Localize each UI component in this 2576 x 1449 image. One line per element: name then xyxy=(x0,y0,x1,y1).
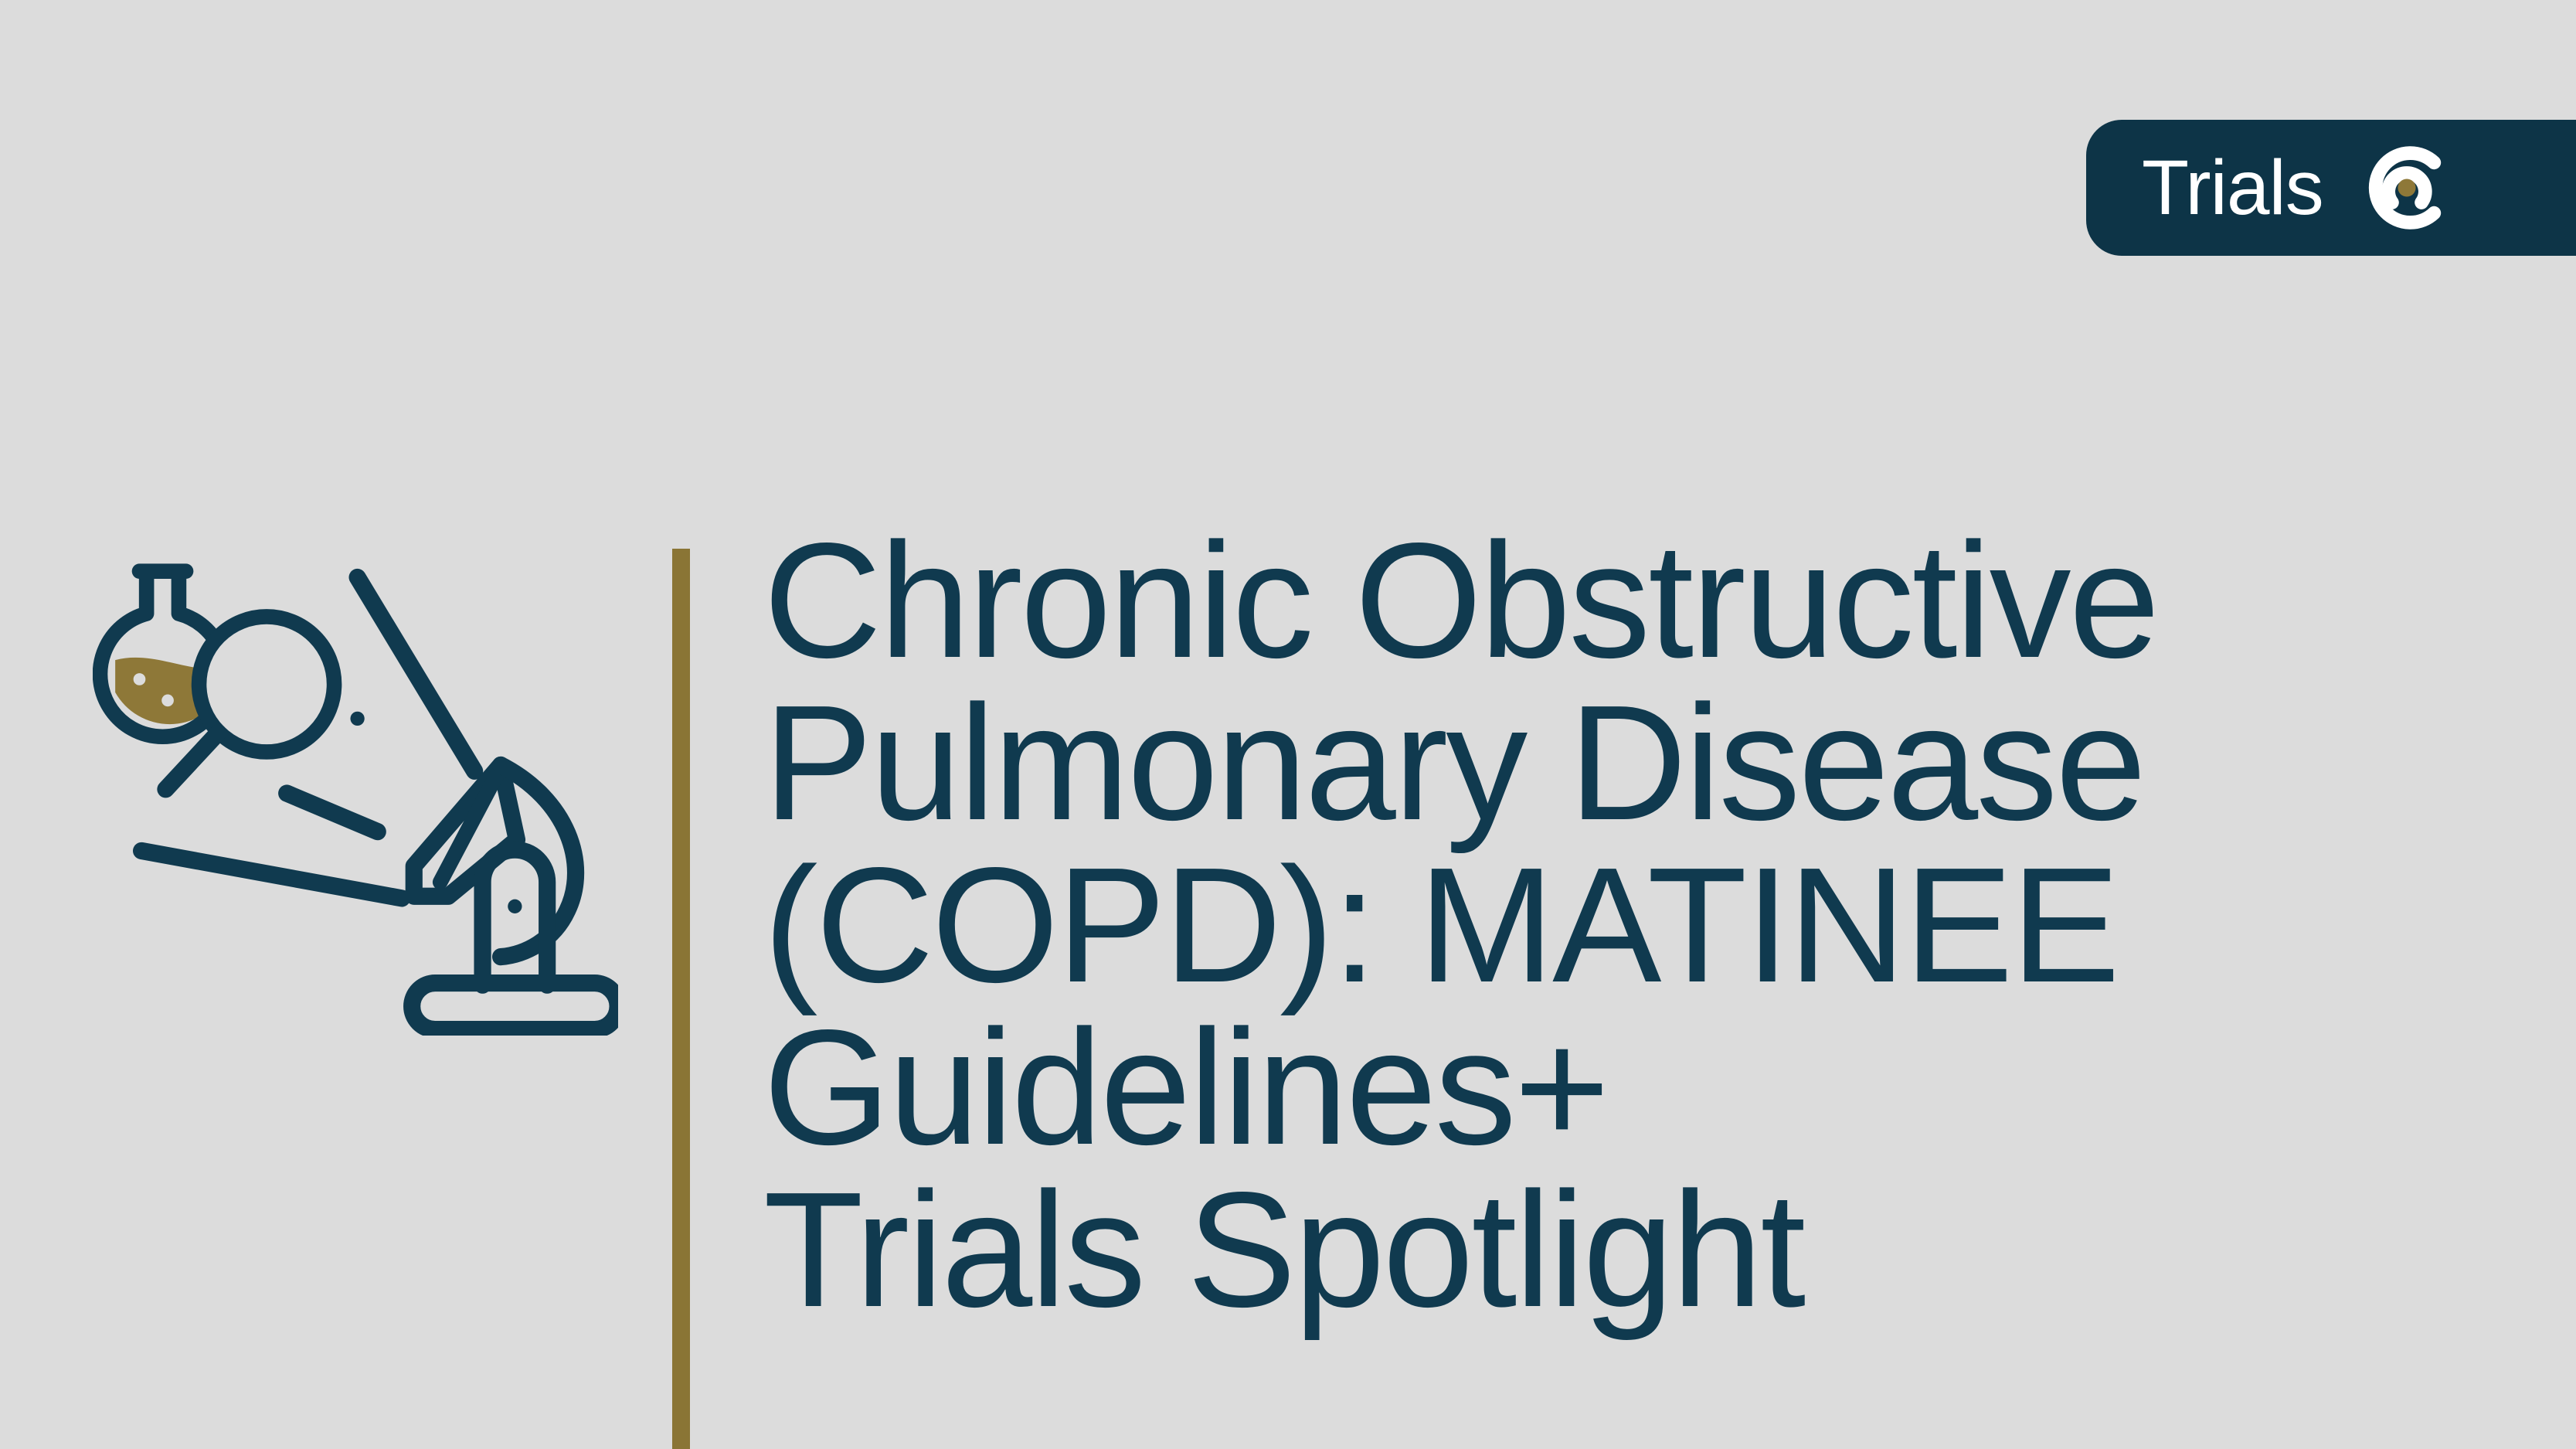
microscope-focus-knob xyxy=(508,900,522,913)
detail-speck xyxy=(350,712,364,726)
microscope-light-ray xyxy=(287,794,378,832)
title-line-1: Chronic Obstructive xyxy=(763,519,2448,682)
logo-center-dot xyxy=(2398,179,2415,196)
microscope-pillar xyxy=(483,850,548,985)
flask-bubble-1 xyxy=(134,673,146,685)
flask-bubble-2 xyxy=(161,695,174,707)
trials-badge[interactable]: Trials xyxy=(2086,120,2576,256)
microscope-base xyxy=(412,983,617,1029)
title-line-3: (COPD): MATINEE xyxy=(763,844,2448,1006)
title-line-4: Guidelines+ xyxy=(763,1006,2448,1168)
title-line-5: Trials Spotlight xyxy=(763,1168,2448,1331)
title-line-2: Pulmonary Disease xyxy=(763,682,2448,844)
spiral-target-logo-icon xyxy=(2354,135,2459,240)
microscope-slide xyxy=(141,851,402,898)
gold-vertical-divider xyxy=(672,549,690,1449)
slide-canvas: Trials xyxy=(0,0,2576,1449)
page-title: Chronic Obstructive Pulmonary Disease (C… xyxy=(763,519,2448,1331)
microscope-magnifier-flask-icon xyxy=(93,541,618,1036)
microscope-eyepiece xyxy=(358,577,475,771)
trials-badge-label: Trials xyxy=(2142,149,2323,226)
